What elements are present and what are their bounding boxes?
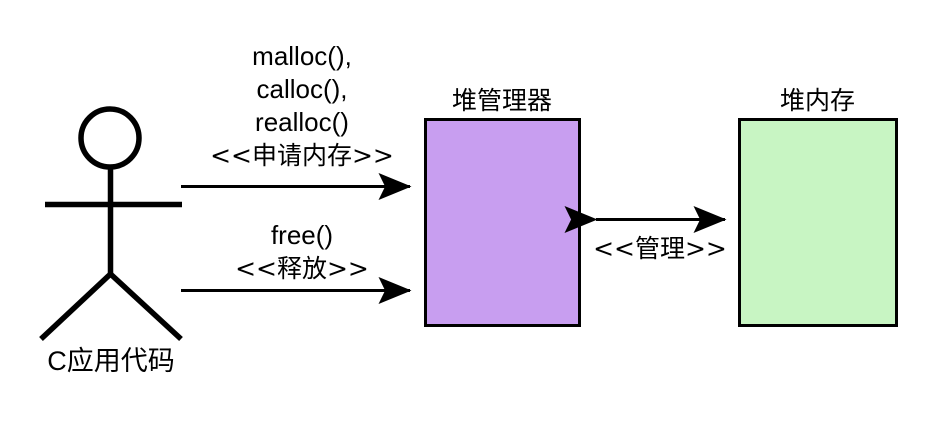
alloc-label-line-3: realloc() bbox=[180, 106, 424, 139]
free-label-stereotype: <<释放>> bbox=[180, 252, 424, 286]
manage-arrow-label: <<管理>> bbox=[582, 236, 738, 261]
diagram-canvas: C应用代码 malloc(), calloc(), realloc() <<申请… bbox=[0, 0, 928, 429]
heap-manager-box bbox=[426, 120, 580, 326]
free-arrow-label: free() <<释放>> bbox=[180, 219, 424, 286]
alloc-label-stereotype: <<申请内存>> bbox=[180, 139, 424, 173]
actor-head-icon bbox=[81, 109, 139, 167]
actor-caption-latin: C bbox=[47, 346, 67, 376]
alloc-label-line-2: calloc(), bbox=[180, 73, 424, 106]
alloc-label-line-1: malloc(), bbox=[180, 40, 424, 73]
alloc-arrow-label: malloc(), calloc(), realloc() <<申请内存>> bbox=[180, 40, 424, 173]
heap-memory-caption: 堆内存 bbox=[738, 88, 897, 113]
actor-caption: C应用代码 bbox=[0, 348, 222, 375]
free-label-line-1: free() bbox=[180, 219, 424, 252]
stick-figure-actor bbox=[41, 109, 182, 339]
actor-left-leg-line bbox=[41, 274, 111, 339]
actor-right-leg-line bbox=[111, 274, 182, 339]
heap-memory-box bbox=[740, 120, 897, 326]
actor-caption-cjk: 应用代码 bbox=[67, 346, 175, 377]
heap-manager-caption: 堆管理器 bbox=[424, 88, 580, 113]
